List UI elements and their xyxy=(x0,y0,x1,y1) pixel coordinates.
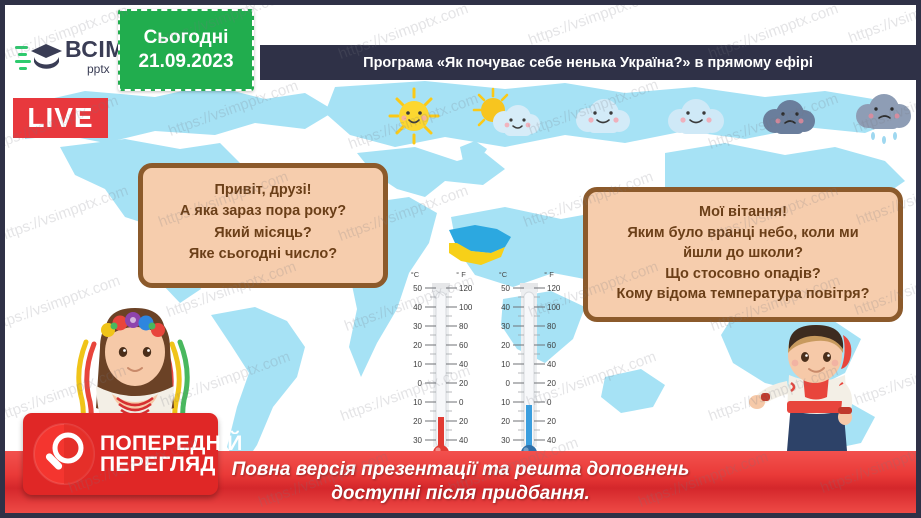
preview-badge: ПОПЕРЕДНІЙ ПЕРЕГЛЯД xyxy=(23,413,218,495)
header-title: Програма «Як почуває себе ненька Україна… xyxy=(363,55,813,71)
svg-text:100: 100 xyxy=(547,303,561,312)
date-badge-value: 21.09.2023 xyxy=(138,50,233,74)
svg-text:10: 10 xyxy=(501,360,510,369)
thermometer-celsius-fahrenheit-left: °C ° F 504030 2010 xyxy=(403,267,479,462)
svg-text:20: 20 xyxy=(459,379,468,388)
svg-text:20: 20 xyxy=(413,341,422,350)
svg-text:50: 50 xyxy=(501,284,510,293)
bubble-left-line-3: Який місяць? xyxy=(153,223,373,244)
svg-text:20: 20 xyxy=(501,341,510,350)
svg-text:30: 30 xyxy=(413,436,422,445)
logo-name: ВСІМ xyxy=(65,38,125,61)
bubble-right-line-2: Яким було вранці небо, коли ми xyxy=(598,223,888,244)
svg-text:30: 30 xyxy=(501,322,510,331)
svg-text:°C: °C xyxy=(411,270,420,279)
watermark-text: https://vsimpptx.com xyxy=(846,5,916,47)
bubble-left-line-2: А яка зараз пора року? xyxy=(153,201,373,222)
bubble-right-line-3: йшли до школи? xyxy=(598,243,888,264)
svg-text:0: 0 xyxy=(418,379,423,388)
svg-text:40: 40 xyxy=(547,436,556,445)
svg-text:40: 40 xyxy=(501,303,510,312)
svg-text:60: 60 xyxy=(547,341,556,350)
live-label: LIVE xyxy=(27,102,93,134)
svg-text:°C: °C xyxy=(499,270,508,279)
cloud-light-icon-2 xyxy=(655,86,733,146)
cloud-light-icon xyxy=(562,86,640,146)
svg-text:30: 30 xyxy=(413,322,422,331)
bubble-right-line-1: Мої вітання! xyxy=(598,202,888,223)
thermometer-celsius-fahrenheit-right: °C ° F 504030 2010 xyxy=(491,267,567,462)
watermark-text: https://vsimpptx.com xyxy=(526,5,660,49)
svg-text:20: 20 xyxy=(459,417,468,426)
svg-text:10: 10 xyxy=(413,360,422,369)
svg-text:40: 40 xyxy=(459,436,468,445)
bottom-banner-line-1: Повна версія презентації та решта доповн… xyxy=(232,458,690,482)
magnifier-icon xyxy=(32,422,96,486)
svg-text:20: 20 xyxy=(547,417,556,426)
svg-text:40: 40 xyxy=(459,360,468,369)
svg-text:0: 0 xyxy=(506,379,511,388)
svg-text:20: 20 xyxy=(547,379,556,388)
sun-cloud-icon xyxy=(468,86,546,146)
sun-icon xyxy=(375,86,453,146)
graduation-cap-icon xyxy=(15,40,61,74)
svg-text:60: 60 xyxy=(459,341,468,350)
svg-text:10: 10 xyxy=(413,398,422,407)
date-badge: Сьогодні 21.09.2023 xyxy=(118,9,254,91)
svg-text:° F: ° F xyxy=(456,270,466,279)
preview-line-1: ПОПЕРЕДНІЙ xyxy=(100,433,243,454)
svg-text:20: 20 xyxy=(501,417,510,426)
svg-text:40: 40 xyxy=(413,303,422,312)
svg-text:10: 10 xyxy=(501,398,510,407)
svg-text:120: 120 xyxy=(459,284,473,293)
bubble-left-line-1: Привіт, друзі! xyxy=(153,180,373,201)
svg-text:80: 80 xyxy=(547,322,556,331)
header-banner: Програма «Як почуває себе ненька Україна… xyxy=(260,45,916,80)
svg-text:80: 80 xyxy=(459,322,468,331)
slide-root: ВСІМ pptx Сьогодні 21.09.2023 LIVE Прогр… xyxy=(0,0,921,518)
weather-icon-row xyxy=(375,85,920,147)
bottom-banner-line-2: доступні після придбання. xyxy=(331,482,590,506)
svg-text:50: 50 xyxy=(413,284,422,293)
svg-text:120: 120 xyxy=(547,284,561,293)
bubble-left-line-4: Яке сьогодні число? xyxy=(153,244,373,265)
svg-text:° F: ° F xyxy=(544,270,554,279)
svg-text:100: 100 xyxy=(459,303,473,312)
svg-text:0: 0 xyxy=(459,398,464,407)
speech-bubble-left: Привіт, друзі! А яка зараз пора року? Як… xyxy=(138,163,388,288)
speech-bubble-right: Мої вітання! Яким було вранці небо, коли… xyxy=(583,187,903,322)
brand-logo: ВСІМ pptx xyxy=(15,38,125,75)
live-badge: LIVE xyxy=(13,98,108,138)
svg-text:20: 20 xyxy=(413,417,422,426)
svg-text:30: 30 xyxy=(501,436,510,445)
cloud-dark-icon xyxy=(749,86,827,146)
preview-line-2: ПЕРЕГЛЯД xyxy=(100,454,243,475)
svg-text:40: 40 xyxy=(547,360,556,369)
rain-cloud-icon xyxy=(842,86,920,146)
svg-text:0: 0 xyxy=(547,398,552,407)
date-badge-label: Сьогодні xyxy=(144,26,229,50)
bubble-right-line-5: Кому відома температура повітря? xyxy=(598,284,888,305)
bubble-right-line-4: Що стосовно опадів? xyxy=(598,264,888,285)
